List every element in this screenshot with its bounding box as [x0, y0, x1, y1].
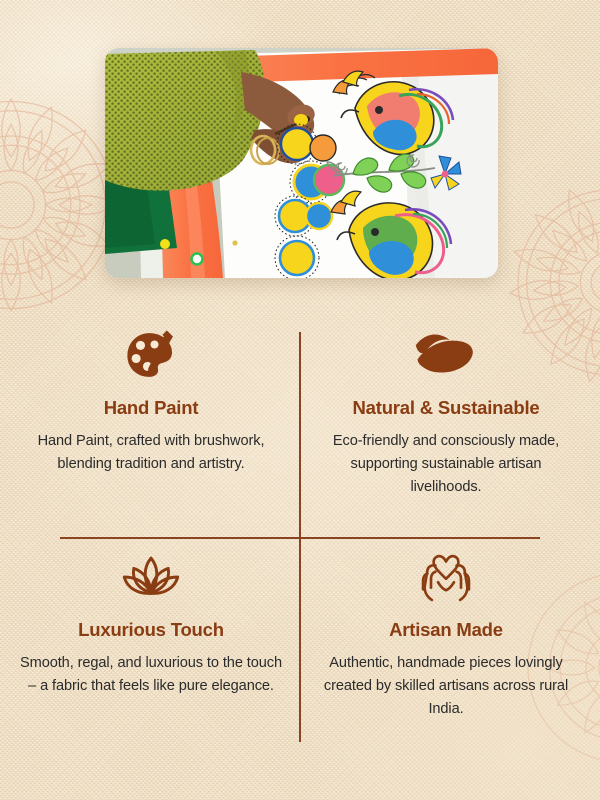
- hero-image-card: [105, 48, 498, 278]
- feature-luxurious-touch: Luxurious Touch Smooth, regal, and luxur…: [10, 546, 292, 698]
- feature-description: Authentic, handmade pieces lovingly crea…: [315, 652, 577, 720]
- feature-title: Luxurious Touch: [20, 620, 282, 640]
- feature-title: Artisan Made: [315, 620, 577, 640]
- feature-hand-paint: Hand Paint Hand Paint, crafted with brus…: [10, 324, 292, 476]
- feature-description: Eco-friendly and consciously made, suppo…: [315, 430, 577, 498]
- lotus-icon: [20, 546, 282, 608]
- feature-artisan-made: Artisan Made Authentic, handmade pieces …: [305, 546, 587, 720]
- hero-image: [105, 48, 498, 278]
- feature-description: Smooth, regal, and luxurious to the touc…: [20, 652, 282, 697]
- hands-heart-icon: [315, 546, 577, 608]
- features-grid: Hand Paint Hand Paint, crafted with brus…: [0, 318, 600, 738]
- divider-horizontal: [60, 537, 540, 539]
- feature-panel: Hand Paint Hand Paint, crafted with brus…: [0, 0, 600, 800]
- feature-description: Hand Paint, crafted with brushwork, blen…: [20, 430, 282, 475]
- leaf-icon: [315, 324, 577, 386]
- paint-palette-icon: [20, 324, 282, 386]
- feature-natural-sustainable: Natural & Sustainable Eco-friendly and c…: [305, 324, 587, 498]
- feature-title: Natural & Sustainable: [315, 398, 577, 418]
- feature-title: Hand Paint: [20, 398, 282, 418]
